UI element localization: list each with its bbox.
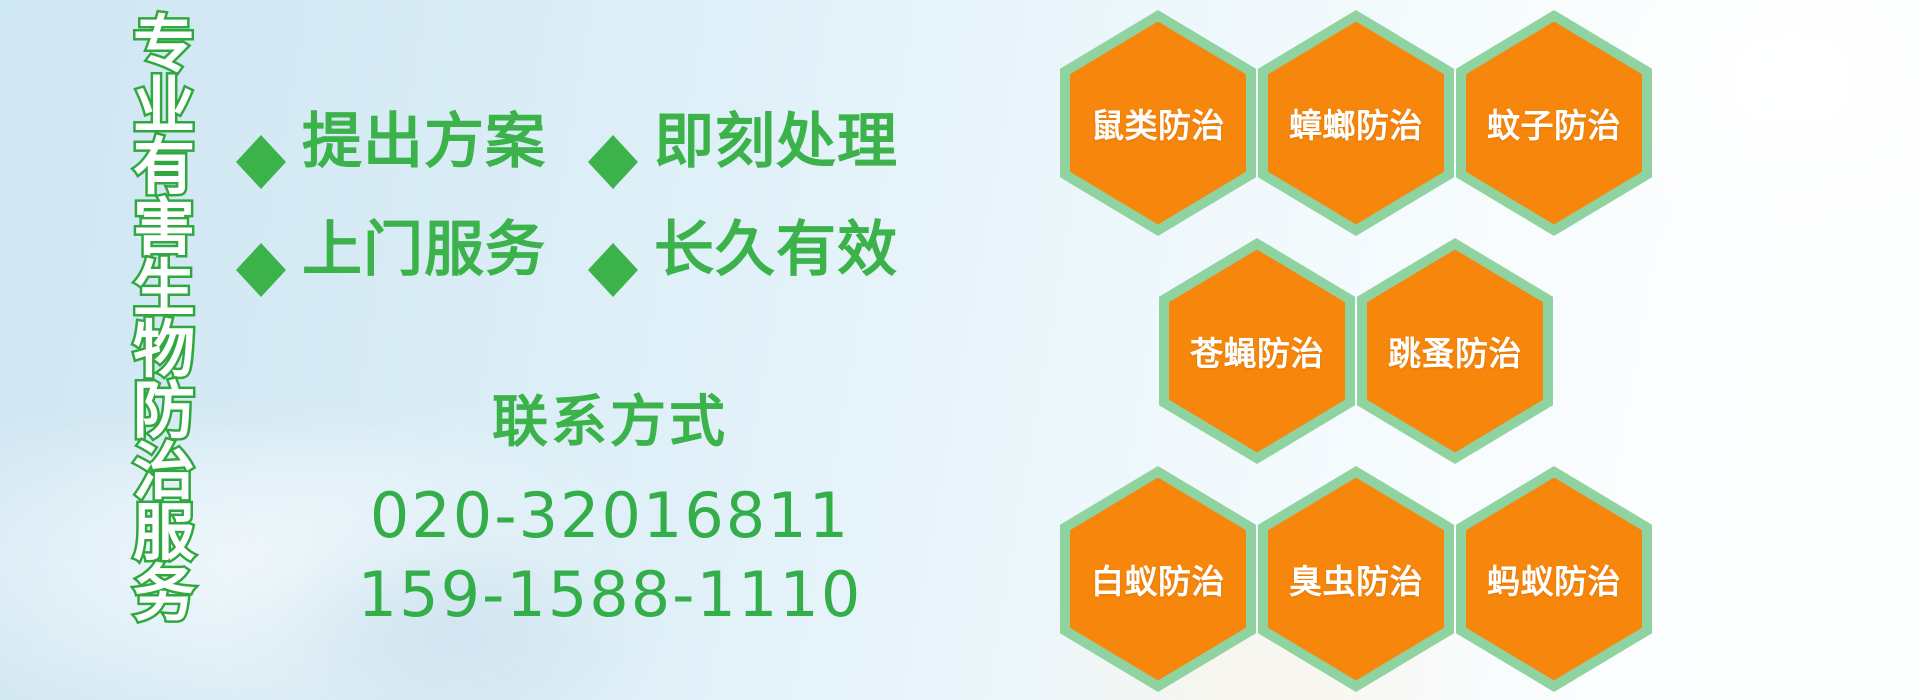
- vertical-headline-char: 治: [133, 441, 195, 502]
- feature-label: 长久有效: [654, 201, 898, 288]
- hex-label: 苍蝇防治: [1190, 327, 1324, 375]
- vertical-headline-char: 务: [133, 563, 195, 624]
- hex-label: 白蚁防治: [1091, 555, 1225, 603]
- feature-label: 提出方案: [302, 93, 546, 180]
- hex-label: 蚊子防治: [1487, 99, 1621, 147]
- hex-cell-ant-control[interactable]: 蚂蚁防治: [1456, 466, 1652, 692]
- hex-cell-rodent-control[interactable]: 鼠类防治: [1060, 10, 1256, 236]
- vertical-headline-char: 专: [133, 14, 195, 75]
- hex-label: 臭虫防治: [1289, 555, 1423, 603]
- hex-inner: 鼠类防治: [1070, 22, 1246, 225]
- feature-label: 即刻处理: [654, 93, 898, 180]
- hex-cell-flea-control[interactable]: 跳蚤防治: [1357, 238, 1553, 464]
- hex-label: 跳蚤防治: [1388, 327, 1522, 375]
- hex-inner: 跳蚤防治: [1367, 250, 1543, 453]
- hex-cell-bedbug-control[interactable]: 臭虫防治: [1258, 466, 1454, 692]
- contact-block: 联系方式 020-32016811 159-1588-1110: [300, 392, 920, 634]
- feature-label: 上门服务: [302, 201, 546, 288]
- feature-row: 上门服务 长久有效: [236, 190, 876, 298]
- diamond-bullet-icon: [236, 110, 286, 162]
- vertical-headline-char: 害: [133, 197, 195, 258]
- diamond-bullet-icon: [236, 218, 286, 270]
- hex-inner: 苍蝇防治: [1169, 250, 1345, 453]
- feature-item-immediate-handling: 即刻处理: [588, 93, 898, 180]
- service-honeycomb-grid: 鼠类防治 蟑螂防治 蚊子防治 苍蝇防治 跳蚤防治 白蚁防治: [1060, 0, 1920, 700]
- promo-banner: 专 业 有 害 生 物 防 治 服 务 提出方案 即刻处理 上门服务: [0, 0, 1920, 700]
- hex-cell-fly-control[interactable]: 苍蝇防治: [1159, 238, 1355, 464]
- hex-inner: 蚊子防治: [1466, 22, 1642, 225]
- vertical-headline-char: 防: [133, 380, 195, 441]
- feature-item-propose-plan: 提出方案: [236, 93, 546, 180]
- phone-number-landline[interactable]: 020-32016811: [300, 476, 920, 555]
- hex-label: 蟑螂防治: [1289, 99, 1423, 147]
- hex-cell-termite-control[interactable]: 白蚁防治: [1060, 466, 1256, 692]
- vertical-headline-char: 生: [133, 258, 195, 319]
- contact-heading: 联系方式: [300, 392, 920, 454]
- phone-number-mobile[interactable]: 159-1588-1110: [300, 555, 920, 634]
- vertical-headline-char: 服: [133, 502, 195, 563]
- hex-cell-mosquito-control[interactable]: 蚊子防治: [1456, 10, 1652, 236]
- hex-inner: 蟑螂防治: [1268, 22, 1444, 225]
- hex-inner: 臭虫防治: [1268, 478, 1444, 681]
- vertical-headline-char: 有: [133, 136, 195, 197]
- hex-inner: 蚂蚁防治: [1466, 478, 1642, 681]
- hex-label: 蚂蚁防治: [1487, 555, 1621, 603]
- vertical-headline-char: 业: [133, 75, 195, 136]
- diamond-bullet-icon: [588, 110, 638, 162]
- hex-inner: 白蚁防治: [1070, 478, 1246, 681]
- vertical-headline-char: 物: [133, 319, 195, 380]
- hex-cell-cockroach-control[interactable]: 蟑螂防治: [1258, 10, 1454, 236]
- diamond-bullet-icon: [588, 218, 638, 270]
- vertical-headline: 专 业 有 害 生 物 防 治 服 务: [112, 14, 216, 624]
- feature-list: 提出方案 即刻处理 上门服务 长久有效: [236, 82, 876, 298]
- feature-row: 提出方案 即刻处理: [236, 82, 876, 190]
- hex-label: 鼠类防治: [1091, 99, 1225, 147]
